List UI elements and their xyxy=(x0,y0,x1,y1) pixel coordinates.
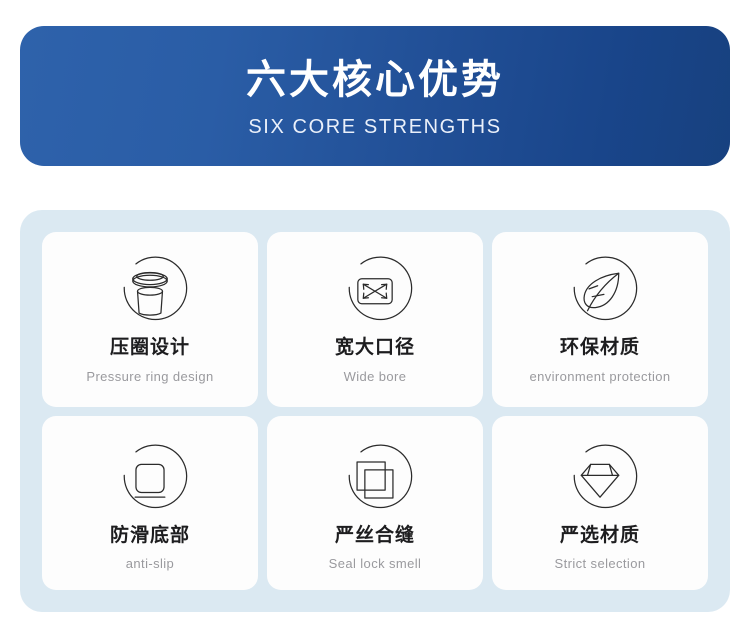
pressure-ring-cup-icon xyxy=(111,253,189,331)
card-subtitle: Seal lock smell xyxy=(329,556,422,572)
strength-card-anti-slip[interactable]: 防滑底部 anti-slip xyxy=(42,416,258,591)
card-subtitle: environment protection xyxy=(529,369,670,385)
page-title: 六大核心优势 xyxy=(246,58,504,102)
page-subtitle: SIX CORE STRENGTHS xyxy=(248,116,501,138)
card-subtitle: Wide bore xyxy=(344,369,407,385)
overlapping-squares-icon xyxy=(336,441,414,519)
leaf-icon xyxy=(561,253,639,331)
card-subtitle: Pressure ring design xyxy=(86,369,213,385)
strength-card-wide-bore[interactable]: 宽大口径 Wide bore xyxy=(267,232,483,407)
header-banner: 六大核心优势 SIX CORE STRENGTHS xyxy=(20,26,730,166)
card-subtitle: anti-slip xyxy=(126,556,174,572)
card-subtitle: Strict selection xyxy=(555,556,646,572)
promo-page: 六大核心优势 SIX CORE STRENGTHS 压圈设计 Pressure … xyxy=(0,0,750,638)
strengths-panel: 压圈设计 Pressure ring design 宽大口径 Wide bore xyxy=(20,210,730,612)
card-title: 压圈设计 xyxy=(110,337,190,360)
diamond-gem-icon xyxy=(561,441,639,519)
card-title: 宽大口径 xyxy=(335,337,415,360)
card-title: 严丝合缝 xyxy=(335,525,415,548)
card-title: 环保材质 xyxy=(560,337,640,360)
card-title: 防滑底部 xyxy=(110,525,190,548)
strength-card-eco-material[interactable]: 环保材质 environment protection xyxy=(492,232,708,407)
strength-card-pressure-ring[interactable]: 压圈设计 Pressure ring design xyxy=(42,232,258,407)
card-title: 严选材质 xyxy=(560,525,640,548)
strength-card-seal-lock[interactable]: 严丝合缝 Seal lock smell xyxy=(267,416,483,591)
wide-bore-arrows-icon xyxy=(336,253,414,331)
anti-slip-base-icon xyxy=(111,441,189,519)
strength-card-strict-selection[interactable]: 严选材质 Strict selection xyxy=(492,416,708,591)
